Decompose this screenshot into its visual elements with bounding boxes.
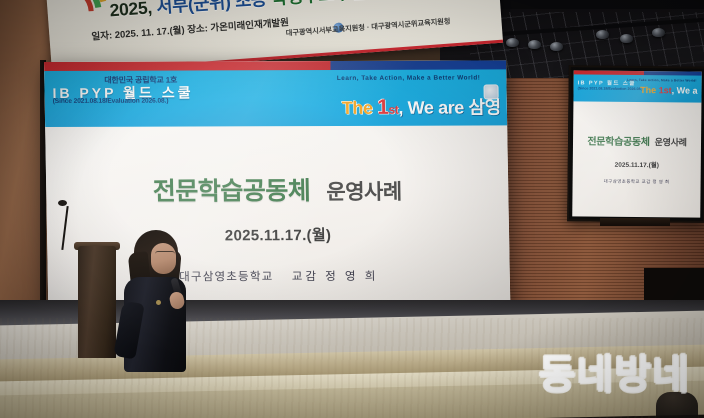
slogan-school-name: 삼영 xyxy=(468,97,501,117)
slide-presenter-line: 대구삼영초등학교 교감 정 영 희 xyxy=(48,267,510,285)
side-title-secondary: 운영사례 xyxy=(655,137,687,147)
stage-light-icon xyxy=(596,30,609,39)
presenter xyxy=(118,230,192,370)
stage-light-icon xyxy=(506,38,519,47)
side-slide-footer: 대구삼영초등학교 교감 정 영 희 xyxy=(573,178,701,185)
side-title-primary: 전문학습공동체 xyxy=(587,136,649,148)
banner-title-year: 2025, xyxy=(109,0,157,20)
banner-title-region: 서부(군위) 초등 xyxy=(156,0,272,17)
presenter-badge-icon xyxy=(156,300,161,305)
side-ib-since: (Since 2021.08.18/Evaluation 2026.08.) xyxy=(578,86,643,91)
slide-main-title: 전문학습공동체운영사례 xyxy=(46,170,509,208)
banner-organizers: 대구광역시서부교육지원청 · 대구광역시군위교육지원청 xyxy=(285,16,450,38)
side-monitor: IB PYP 월드 스쿨 (Since 2021.08.18/Evaluatio… xyxy=(567,65,704,222)
microphone-icon xyxy=(58,200,67,206)
side-monitor-slide: IB PYP 월드 스쿨 (Since 2021.08.18/Evaluatio… xyxy=(572,70,702,217)
stage-light-icon xyxy=(620,34,633,43)
foreground-chair xyxy=(656,392,698,418)
ib-since-caption: (Since 2021.08.18/Evaluation 2026.08.) xyxy=(53,98,169,105)
slogan-number: 1 xyxy=(377,96,389,119)
side-slogan-the: The xyxy=(640,85,659,95)
side-slide-date: 2025.11.17.(월) xyxy=(573,158,701,169)
school-tagline: Learn, Take Action, Make a Better World! xyxy=(337,74,481,81)
banner-title-topic: 학생주도수업 운영사례 xyxy=(270,0,438,9)
slogan-the: The xyxy=(342,98,378,118)
glasses-icon xyxy=(155,251,175,258)
slogan-we-are: , We are xyxy=(398,98,468,118)
school-slogan: The 1st, We are 삼영 xyxy=(342,93,501,120)
slide-school-name: 대구삼영초등학교 xyxy=(179,271,273,283)
slide-title-secondary: 운영사례 xyxy=(326,181,402,204)
auditorium-photo: 2025, 서부(군위) 초등 학생주도수업 운영사례 나눔 워크숍 일자: 2… xyxy=(0,0,704,418)
side-slide-title: 전문학습공동체운영사례 xyxy=(573,132,701,148)
side-monitor-stand xyxy=(600,218,670,226)
side-slogan-number: 1st xyxy=(659,85,672,95)
side-slogan: The 1st, We a xyxy=(640,85,697,96)
side-tagline: Learn, Take Action, Make a Better World! xyxy=(627,78,697,83)
slide-title-primary: 전문학습공동체 xyxy=(153,177,311,206)
presenter-face xyxy=(151,243,176,274)
slogan-ordinal: st xyxy=(388,103,398,117)
side-slogan-we: , We a xyxy=(672,85,698,95)
stage-light-icon xyxy=(652,28,665,37)
stage-light-icon xyxy=(528,40,541,49)
stage-light-icon xyxy=(550,42,563,51)
slide-presenter-name: 교감 정 영 희 xyxy=(292,271,379,283)
podium xyxy=(78,246,116,358)
